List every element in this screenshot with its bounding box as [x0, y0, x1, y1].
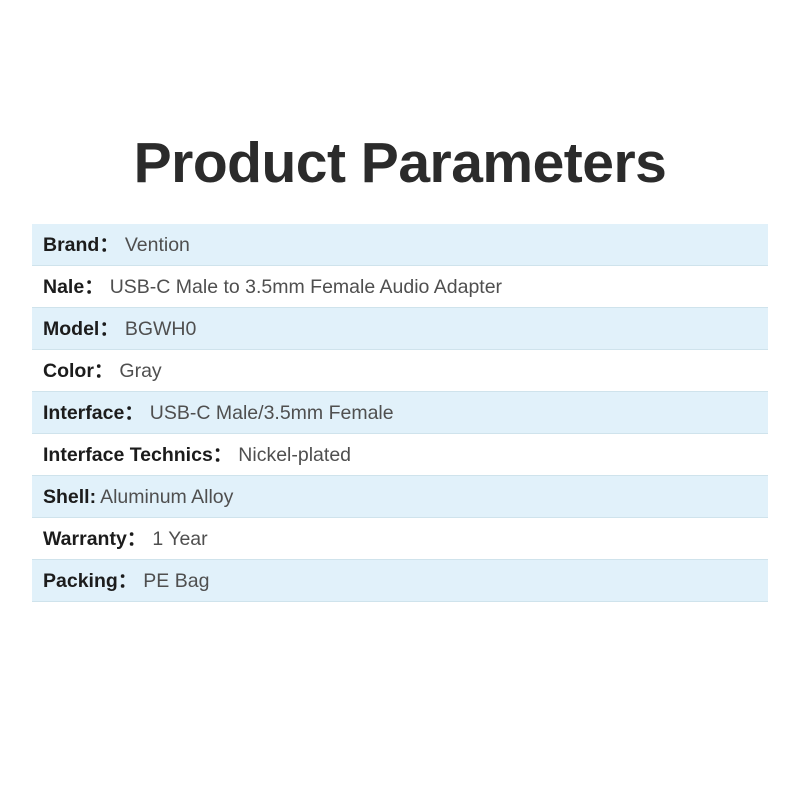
table-row: Brand： Vention	[32, 224, 768, 266]
spec-value: PE Bag	[143, 570, 209, 592]
spec-value: 1 Year	[152, 528, 207, 550]
table-row: Packing： PE Bag	[32, 560, 768, 602]
spec-label: Shell:	[43, 486, 96, 508]
spec-table: Brand： Vention Nale： USB-C Male to 3.5mm…	[32, 224, 768, 602]
spec-label: Model：	[43, 318, 119, 340]
spec-label: Interface Technics：	[43, 444, 232, 466]
spec-value: USB-C Male/3.5mm Female	[150, 402, 394, 424]
table-row: Interface Technics： Nickel-plated	[32, 434, 768, 476]
table-row: Color： Gray	[32, 350, 768, 392]
spec-value: USB-C Male to 3.5mm Female Audio Adapter	[110, 276, 502, 298]
spec-label: Color：	[43, 360, 113, 382]
table-row: Nale： USB-C Male to 3.5mm Female Audio A…	[32, 266, 768, 308]
spec-value: Nickel-plated	[238, 444, 351, 466]
spec-value: Aluminum Alloy	[100, 486, 233, 508]
spec-value: Gray	[119, 360, 161, 382]
spec-label: Brand：	[43, 234, 119, 256]
table-row: Shell: Aluminum Alloy	[32, 476, 768, 518]
spec-value: Vention	[125, 234, 190, 256]
table-row: Warranty： 1 Year	[32, 518, 768, 560]
table-row: Interface： USB-C Male/3.5mm Female	[32, 392, 768, 434]
page-title: Product Parameters	[0, 127, 800, 199]
spec-label: Nale：	[43, 276, 104, 298]
product-parameters-page: Product Parameters Brand： Vention Nale： …	[0, 0, 800, 800]
spec-label: Warranty：	[43, 528, 146, 550]
spec-label: Packing：	[43, 570, 137, 592]
table-row: Model： BGWH0	[32, 308, 768, 350]
spec-label: Interface：	[43, 402, 144, 424]
spec-value: BGWH0	[125, 318, 197, 340]
